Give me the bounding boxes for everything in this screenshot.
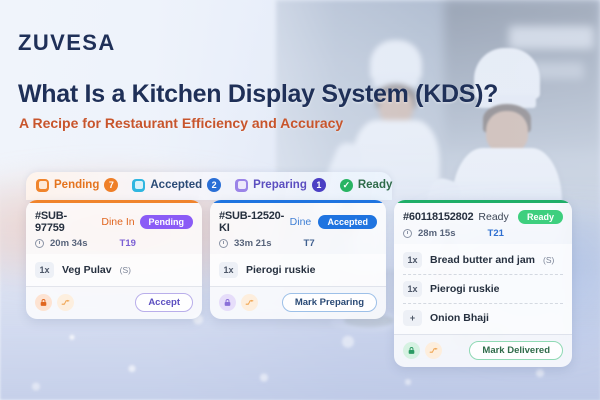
tab-label: Accepted	[150, 179, 202, 191]
tab-accepted[interactable]: Accepted2	[132, 178, 221, 192]
tab-pending[interactable]: Pending7	[36, 178, 118, 192]
brand-logo: ZUVESA	[18, 30, 116, 56]
tab-label: Preparing	[253, 179, 307, 191]
lock-icon[interactable]	[219, 294, 236, 311]
route-arrow-icon[interactable]	[57, 294, 74, 311]
order-card[interactable]: #60118152802ReadyReady28m 15sT211xBread …	[394, 200, 572, 367]
table-number-badge: T19	[120, 238, 136, 249]
order-type: Ready	[478, 211, 513, 223]
order-card-footer: Mark Delivered	[394, 334, 572, 367]
page-title: What Is a Kitchen Display System (KDS)?	[18, 80, 498, 109]
item-quantity: +	[403, 310, 422, 326]
order-timer: 33m 21s	[234, 238, 272, 249]
order-card-footer: Accept	[26, 286, 202, 319]
order-timer: 20m 34s	[50, 238, 88, 249]
order-type: Dine In	[101, 216, 134, 228]
order-card-header: #SUB-12520-KIDine IAccepted33m 21sT7	[210, 203, 386, 254]
item-name: Onion Bhaji	[430, 312, 489, 324]
route-arrow-icon[interactable]	[425, 342, 442, 359]
order-status-tabbar: Pending7Accepted2Preparing1Ready	[26, 172, 392, 200]
tab-label: Pending	[54, 179, 99, 191]
tab-preparing[interactable]: Preparing1	[235, 178, 326, 192]
order-card-header: #SUB-97759Dine InPending20m 34sT19	[26, 203, 202, 254]
order-id: #SUB-12520-KI	[219, 210, 285, 234]
item-name: Pierogi ruskie	[246, 264, 315, 276]
kds-panel: Pending7Accepted2Preparing1Ready #SUB-97…	[26, 172, 586, 367]
item-name: Veg Pulav	[62, 264, 112, 276]
order-card-footer: Mark Preparing	[210, 286, 386, 319]
item-quantity: 1x	[403, 252, 422, 268]
order-status-badge: Accepted	[318, 215, 377, 229]
order-card-list: #SUB-97759Dine InPending20m 34sT191xVeg …	[26, 200, 586, 367]
order-item-row: 1xPierogi ruskie	[219, 256, 377, 284]
preparing-icon	[235, 179, 248, 192]
order-card[interactable]: #SUB-97759Dine InPending20m 34sT191xVeg …	[26, 200, 202, 319]
order-action-button[interactable]: Mark Delivered	[469, 341, 563, 360]
order-action-button[interactable]: Mark Preparing	[282, 293, 377, 312]
table-number-badge: T21	[488, 228, 504, 239]
order-id: #SUB-97759	[35, 210, 96, 234]
route-arrow-icon[interactable]	[241, 294, 258, 311]
accepted-icon	[132, 179, 145, 192]
order-item-row: 1xBread butter and jam(S)	[403, 246, 563, 274]
item-name: Bread butter and jam	[430, 254, 535, 266]
item-quantity: 1x	[35, 262, 54, 278]
order-card[interactable]: #SUB-12520-KIDine IAccepted33m 21sT71xPi…	[210, 200, 386, 319]
tab-ready[interactable]: Ready	[340, 179, 393, 192]
item-quantity: 1x	[219, 262, 238, 278]
order-item-row: 1xVeg Pulav(S)	[35, 256, 193, 284]
lock-icon[interactable]	[403, 342, 420, 359]
order-action-button[interactable]: Accept	[135, 293, 193, 312]
page-subtitle: A Recipe for Restaurant Efficiency and A…	[19, 115, 343, 131]
item-quantity: 1x	[403, 281, 422, 297]
order-items: 1xVeg Pulav(S)	[26, 254, 202, 286]
order-status-badge: Ready	[518, 210, 563, 224]
ready-check-icon	[340, 179, 353, 192]
order-item-row: 1xPierogi ruskie	[403, 274, 563, 303]
lock-icon[interactable]	[35, 294, 52, 311]
clock-icon	[35, 239, 44, 248]
clock-icon	[219, 239, 228, 248]
order-item-row: +Onion Bhaji	[403, 303, 563, 332]
order-id: #60118152802	[403, 211, 473, 223]
clock-icon	[403, 229, 412, 238]
order-items: 1xPierogi ruskie	[210, 254, 386, 286]
order-timer: 28m 15s	[418, 228, 456, 239]
order-type: Dine I	[290, 216, 314, 228]
tab-count-badge: 2	[207, 178, 221, 192]
item-size: (S)	[543, 255, 554, 265]
table-number-badge: T7	[304, 238, 315, 249]
tab-label: Ready	[358, 179, 393, 191]
order-items: 1xBread butter and jam(S)1xPierogi ruski…	[394, 244, 572, 334]
order-card-header: #60118152802ReadyReady28m 15sT21	[394, 203, 572, 244]
item-size: (S)	[120, 265, 131, 275]
tab-count-badge: 1	[312, 178, 326, 192]
order-status-badge: Pending	[140, 215, 194, 229]
tab-count-badge: 7	[104, 178, 118, 192]
pending-icon	[36, 179, 49, 192]
item-name: Pierogi ruskie	[430, 283, 499, 295]
